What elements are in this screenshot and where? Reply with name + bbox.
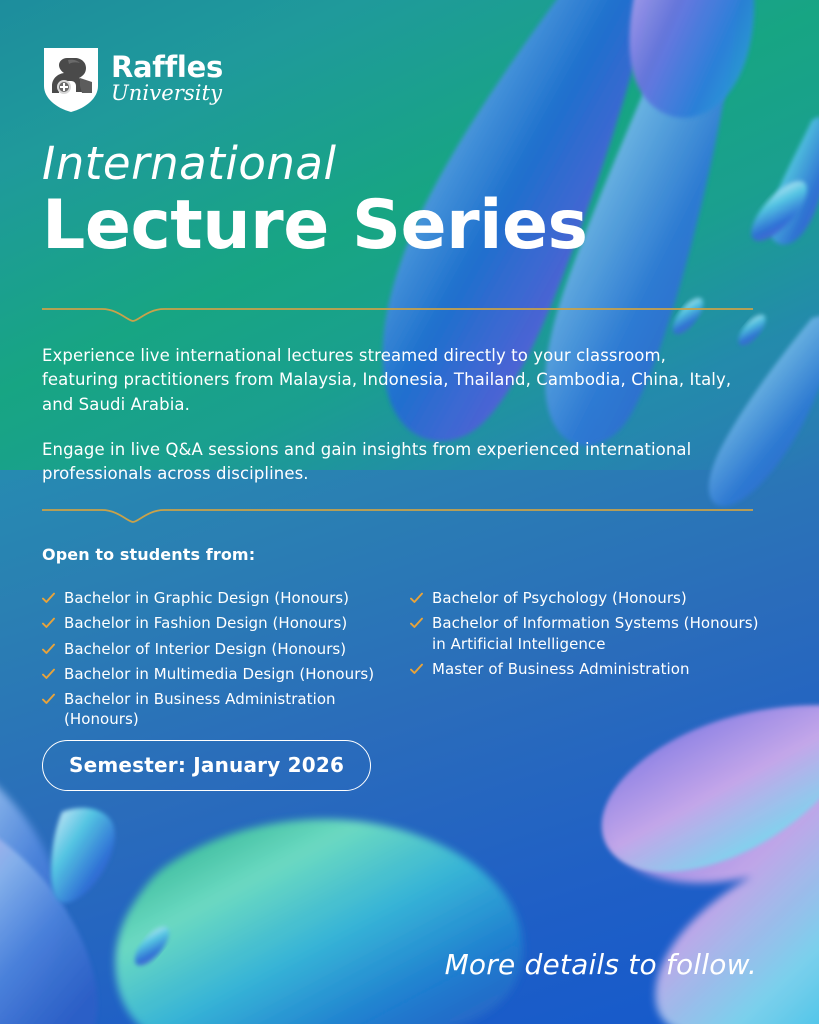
headline-kicker: International: [42, 140, 588, 187]
courses-heading: Open to students from:: [42, 545, 255, 564]
semester-badge[interactable]: Semester: January 2026: [42, 740, 371, 791]
list-item: Bachelor in Fashion Design (Honours): [42, 613, 410, 633]
list-item-label: Bachelor in Fashion Design (Honours): [64, 613, 347, 633]
list-item: Bachelor of Information Systems (Honours…: [410, 613, 762, 654]
intro-paragraph-1: Experience live international lectures s…: [42, 344, 742, 417]
list-item-label: Bachelor of Information Systems (Honours…: [432, 613, 762, 654]
list-item: Bachelor in Graphic Design (Honours): [42, 588, 410, 608]
footer-note: More details to follow.: [445, 948, 757, 981]
courses-column-right: Bachelor of Psychology (Honours) Bachelo…: [410, 588, 762, 735]
check-icon: [410, 592, 423, 605]
check-icon: [42, 592, 55, 605]
check-icon: [42, 617, 55, 630]
list-item-label: Bachelor in Business Administration (Hon…: [64, 689, 410, 730]
check-icon: [410, 617, 423, 630]
courses-lists: Bachelor in Graphic Design (Honours) Bac…: [42, 588, 762, 735]
courses-column-left: Bachelor in Graphic Design (Honours) Bac…: [42, 588, 410, 735]
list-item-label: Bachelor of Psychology (Honours): [432, 588, 687, 608]
list-item: Master of Business Administration: [410, 659, 762, 679]
list-item: Bachelor of Psychology (Honours): [410, 588, 762, 608]
check-icon: [42, 668, 55, 681]
list-item-label: Bachelor of Interior Design (Honours): [64, 639, 346, 659]
list-item: Bachelor in Business Administration (Hon…: [42, 689, 410, 730]
check-icon: [42, 643, 55, 656]
list-item-label: Bachelor in Graphic Design (Honours): [64, 588, 349, 608]
page-title: Lecture Series: [42, 189, 588, 262]
check-icon: [410, 663, 423, 676]
brand-name: Raffles: [111, 53, 223, 82]
list-item: Bachelor of Interior Design (Honours): [42, 639, 410, 659]
brand-wordmark: Raffles University: [111, 53, 223, 108]
list-item-label: Bachelor in Multimedia Design (Honours): [64, 664, 374, 684]
poster-content: Raffles University International Lecture…: [0, 0, 819, 1024]
poster-canvas: Raffles University International Lecture…: [0, 0, 819, 1024]
headline-block: International Lecture Series: [42, 140, 588, 263]
check-icon: [42, 693, 55, 706]
divider-top: [42, 302, 753, 324]
divider-bottom: [42, 503, 753, 525]
intro-paragraph-2: Engage in live Q&A sessions and gain ins…: [42, 438, 742, 487]
brand-subname: University: [111, 83, 223, 104]
list-item-label: Master of Business Administration: [432, 659, 690, 679]
list-item: Bachelor in Multimedia Design (Honours): [42, 664, 410, 684]
brand-logo: Raffles University: [42, 46, 223, 114]
shield-crest-icon: [42, 46, 100, 114]
